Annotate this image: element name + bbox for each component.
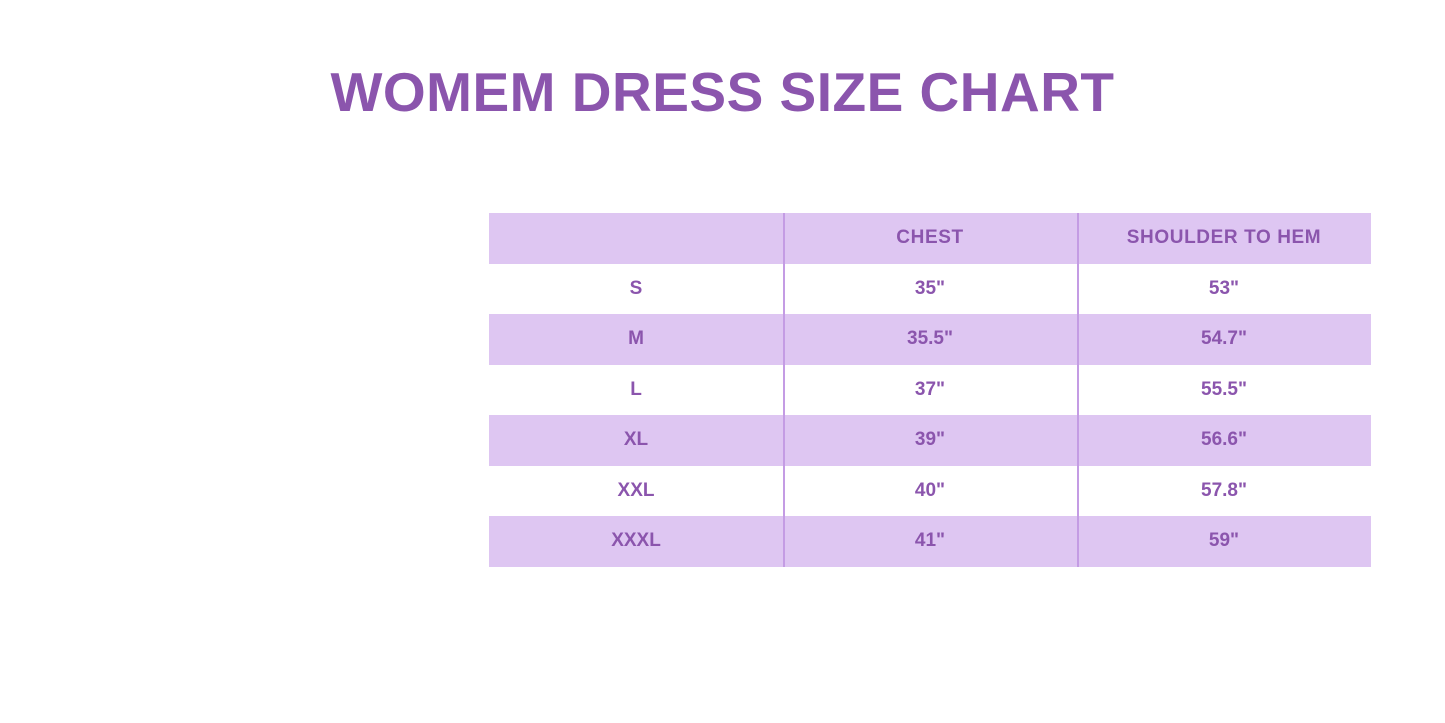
table-row: XXL 40" 57.8" [489, 466, 1371, 517]
cell-size: XXXL [489, 516, 783, 567]
cell-shoulder-to-hem: 55.5" [1077, 365, 1371, 416]
cell-chest: 37" [783, 365, 1077, 416]
cell-shoulder-to-hem: 54.7" [1077, 314, 1371, 365]
cell-size: S [489, 264, 783, 315]
cell-chest: 40" [783, 466, 1077, 517]
table-header-row: CHEST SHOULDER TO HEM [489, 213, 1371, 264]
cell-shoulder-to-hem: 57.8" [1077, 466, 1371, 517]
cell-chest: 35.5" [783, 314, 1077, 365]
column-header-shoulder-to-hem: SHOULDER TO HEM [1077, 213, 1371, 264]
table-row: L 37" 55.5" [489, 365, 1371, 416]
cell-shoulder-to-hem: 59" [1077, 516, 1371, 567]
column-header-size [489, 213, 783, 264]
size-chart-page: WOMEM DRESS SIZE CHART CHEST SHOULDER TO… [0, 0, 1445, 723]
cell-chest: 39" [783, 415, 1077, 466]
table-row: XXXL 41" 59" [489, 516, 1371, 567]
cell-chest: 41" [783, 516, 1077, 567]
column-header-chest: CHEST [783, 213, 1077, 264]
table-row: XL 39" 56.6" [489, 415, 1371, 466]
cell-size: M [489, 314, 783, 365]
cell-size: XL [489, 415, 783, 466]
size-chart-table: CHEST SHOULDER TO HEM S 35" 53" M 35.5" … [489, 213, 1371, 567]
cell-shoulder-to-hem: 56.6" [1077, 415, 1371, 466]
cell-shoulder-to-hem: 53" [1077, 264, 1371, 315]
cell-chest: 35" [783, 264, 1077, 315]
table-row: M 35.5" 54.7" [489, 314, 1371, 365]
cell-size: XXL [489, 466, 783, 517]
table-row: S 35" 53" [489, 264, 1371, 315]
page-title: WOMEM DRESS SIZE CHART [0, 57, 1445, 127]
cell-size: L [489, 365, 783, 416]
size-chart-table-wrapper: CHEST SHOULDER TO HEM S 35" 53" M 35.5" … [489, 213, 1371, 567]
